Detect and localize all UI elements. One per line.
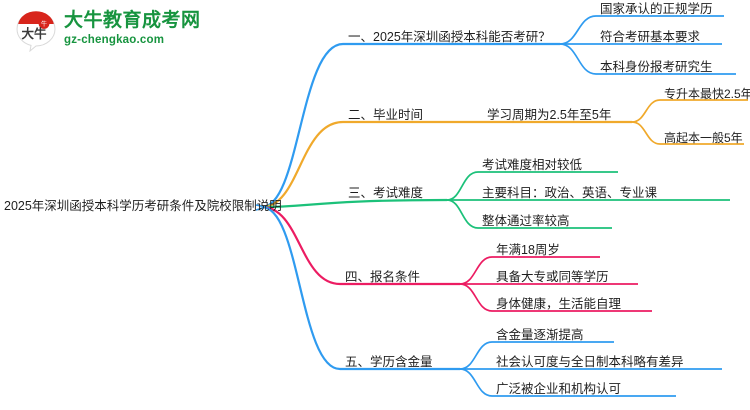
logo-subtitle-url: gz-chengkao.com bbox=[64, 33, 201, 47]
daniu-logo-icon: 牛 大牛 bbox=[14, 8, 58, 52]
branch-node-4[interactable]: 四、报名条件 bbox=[345, 271, 420, 284]
branch-node-5[interactable]: 五、学历含金量 bbox=[345, 356, 433, 369]
branch-1-child-3[interactable]: 本科身份报考研究生 bbox=[600, 61, 713, 74]
branch-5-child-1[interactable]: 含金量逐渐提高 bbox=[496, 329, 584, 342]
branch-3-child-3[interactable]: 整体通过率较高 bbox=[482, 215, 570, 228]
svg-text:大牛: 大牛 bbox=[21, 26, 47, 41]
branch-node-3[interactable]: 三、考试难度 bbox=[348, 187, 423, 200]
branch-1-child-1[interactable]: 国家承认的正规学历 bbox=[600, 3, 713, 16]
branch-4-child-1[interactable]: 年满18周岁 bbox=[496, 244, 560, 257]
branch-node-2[interactable]: 二、毕业时间 bbox=[348, 109, 423, 122]
branch-3-child-1[interactable]: 考试难度相对较低 bbox=[482, 159, 582, 172]
mindmap-root-node[interactable]: 2025年深圳函授本科学历考研条件及院校限制说明 bbox=[4, 200, 282, 213]
logo-text-group: 大牛教育成考网 gz-chengkao.com bbox=[64, 10, 201, 47]
site-logo[interactable]: 牛 大牛 大牛教育成考网 gz-chengkao.com bbox=[14, 6, 194, 54]
branch-2-grandchild-1[interactable]: 专升本最快2.5年 bbox=[664, 88, 750, 100]
branch-5-child-2[interactable]: 社会认可度与全日制本科略有差异 bbox=[496, 356, 684, 369]
logo-title: 大牛教育成考网 bbox=[64, 10, 201, 32]
branch-3-child-2[interactable]: 主要科目：政治、英语、专业课 bbox=[482, 187, 657, 200]
branch-4-child-3[interactable]: 身体健康，生活能自理 bbox=[496, 298, 621, 311]
branch-4-child-2[interactable]: 具备大专或同等学历 bbox=[496, 271, 609, 284]
branch-1-child-2[interactable]: 符合考研基本要求 bbox=[600, 31, 700, 44]
branch-node-1[interactable]: 一、2025年深圳函授本科能否考研？ bbox=[348, 31, 551, 44]
branch-5-child-3[interactable]: 广泛被企业和机构认可 bbox=[496, 383, 621, 396]
branch-2-grandchild-2[interactable]: 高起本一般5年 bbox=[664, 132, 743, 144]
branch-2-child-1[interactable]: 学习周期为2.5年至5年 bbox=[487, 109, 611, 122]
branch-4-connectors bbox=[262, 207, 652, 311]
